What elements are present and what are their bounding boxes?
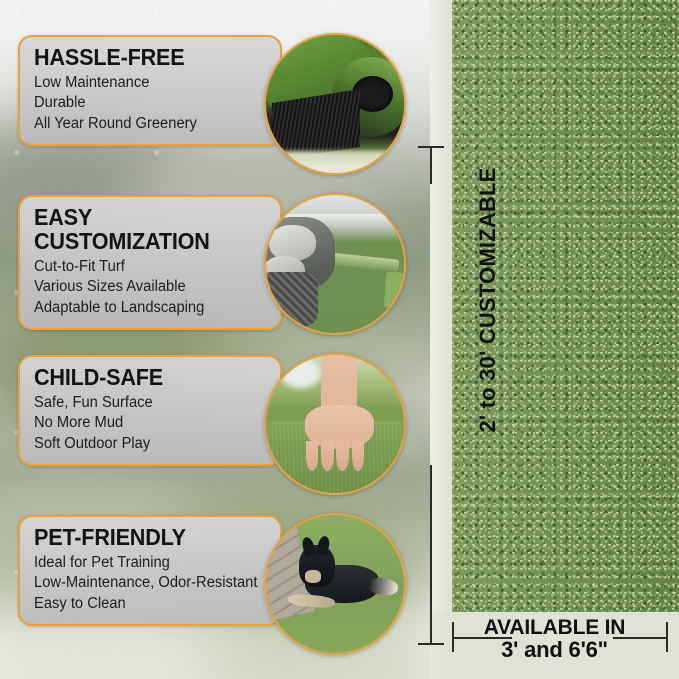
length-label-wrap: 2' to 30' CUSTOMIZABLE — [398, 0, 462, 679]
feature-bullet: Cut-to-Fit Turf — [34, 257, 254, 277]
feature-card-pet-friendly: PET-FRIENDLY Ideal for Pet Training Low-… — [18, 515, 282, 626]
feature-card-hassle-free: HASSLE-FREE Low Maintenance Durable All … — [18, 35, 282, 146]
feature-bullet: Low-Maintenance, Odor-Resistant — [34, 573, 254, 593]
feature-title: EASY CUSTOMIZATION — [34, 206, 252, 254]
feature-bullet: Durable — [34, 93, 254, 113]
feature-bullet: Soft Outdoor Play — [34, 434, 254, 454]
dog-lying-on-turf-photo — [264, 513, 406, 655]
feature-bullet: Ideal for Pet Training — [34, 553, 254, 573]
feature-title: HASSLE-FREE — [34, 46, 252, 70]
width-dimension-label: AVAILABLE IN 3' and 6'6" — [430, 617, 679, 662]
feature-title: CHILD-SAFE — [34, 366, 252, 390]
feature-bullet: Easy to Clean — [34, 594, 254, 614]
feature-card-easy-customization: EASY CUSTOMIZATION Cut-to-Fit Turf Vario… — [18, 195, 282, 330]
product-infographic: HASSLE-FREE Low Maintenance Durable All … — [0, 0, 679, 679]
gloved-hands-cutting-turf-photo — [264, 193, 406, 335]
feature-card-child-safe: CHILD-SAFE Safe, Fun Surface No More Mud… — [18, 355, 282, 466]
width-label-line1: AVAILABLE IN — [430, 617, 679, 639]
feature-title: PET-FRIENDLY — [34, 526, 252, 550]
length-dimension-label: 2' to 30' CUSTOMIZABLE — [475, 140, 501, 460]
feature-bullet: Adaptable to Landscaping — [34, 298, 254, 318]
feature-bullet: Low Maintenance — [34, 73, 254, 93]
rolled-turf-photo — [264, 33, 406, 175]
child-hand-on-turf-photo — [264, 353, 406, 495]
feature-bullet: No More Mud — [34, 413, 254, 433]
feature-bullet: Various Sizes Available — [34, 277, 254, 297]
feature-bullet: All Year Round Greenery — [34, 114, 254, 134]
width-label-line2: 3' and 6'6" — [430, 639, 679, 662]
feature-bullet: Safe, Fun Surface — [34, 393, 254, 413]
